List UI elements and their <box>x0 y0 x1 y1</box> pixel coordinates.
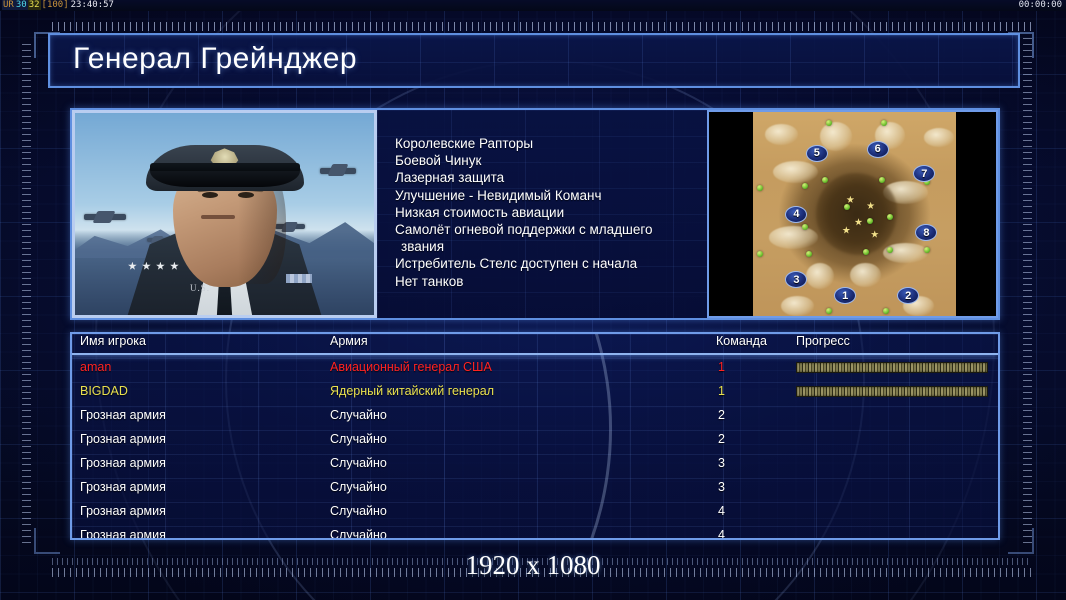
title-bar: Генерал Грейнджер <box>48 33 1020 88</box>
terrain-blob <box>820 122 852 151</box>
cell-player-name: Грозная армия <box>80 480 330 494</box>
status-label: UR <box>2 0 15 10</box>
map-start-position[interactable]: 8 <box>915 224 937 241</box>
terrain-blob <box>924 128 954 146</box>
ribbon-bar-icon <box>286 274 312 283</box>
table-header-row: Имя игрока Армия Команда Прогресс <box>72 334 998 355</box>
main-panel: U.S. Королевские Рапторы Боевой Чинук Ла… <box>48 96 1020 551</box>
map-start-position[interactable]: 5 <box>806 145 828 162</box>
terrain-blob <box>883 243 928 263</box>
map-start-position[interactable]: 1 <box>834 287 856 304</box>
game-lobby-screen: UR3032[100]23:40:57 00:00:00 Генерал Гре… <box>0 0 1066 600</box>
cell-team: 4 <box>716 504 796 518</box>
cell-player-name: Грозная армия <box>80 528 330 540</box>
cell-team: 4 <box>716 528 796 540</box>
resource-icon <box>924 247 930 253</box>
map-start-position[interactable]: 3 <box>785 271 807 288</box>
table-row[interactable]: Грозная армия Случайно 2 <box>72 427 998 451</box>
cell-army: Авиационный генерал США <box>330 360 716 374</box>
terrain-blob <box>773 161 818 183</box>
terrain-blob <box>806 263 834 290</box>
start-position-label: 7 <box>921 168 927 180</box>
cell-army: Случайно <box>330 504 716 518</box>
resource-icon <box>867 218 873 224</box>
cell-army: Случайно <box>330 408 716 422</box>
cell-team: 2 <box>716 432 796 446</box>
resource-icon <box>826 308 832 314</box>
general-eye-right <box>238 192 254 198</box>
resource-icon <box>863 249 869 255</box>
cell-army: Случайно <box>330 432 716 446</box>
cell-player-name: Грозная армия <box>80 408 330 422</box>
star-icon <box>128 262 137 271</box>
table-row[interactable]: Грозная армия Случайно 2 <box>72 403 998 427</box>
map-start-position[interactable]: 4 <box>785 206 807 223</box>
cell-player-name: BIGDAD <box>80 384 330 398</box>
status-clock: 23:40:57 <box>70 0 115 10</box>
terrain-blob <box>765 124 797 144</box>
bonus-item: Королевские Рапторы <box>395 135 707 152</box>
start-position-label: 3 <box>793 274 799 286</box>
table-row[interactable]: Грозная армия Случайно 3 <box>72 451 998 475</box>
start-position-label: 2 <box>905 290 911 302</box>
rank-stars-icon <box>128 262 179 271</box>
cell-player-name: Грозная армия <box>80 504 330 518</box>
general-info-row: U.S. Королевские Рапторы Боевой Чинук Ла… <box>70 108 1000 320</box>
progress-bar <box>796 362 988 373</box>
bonus-item: Нет танков <box>395 273 707 290</box>
start-position-label: 8 <box>923 227 929 239</box>
status-right-clock: 00:00:00 <box>1019 0 1062 11</box>
cell-player-name: Грозная армия <box>80 456 330 470</box>
resource-icon <box>883 308 889 314</box>
star-icon <box>156 262 165 271</box>
map-start-position[interactable]: 7 <box>913 165 935 182</box>
column-header-player-name: Имя игрока <box>80 334 330 348</box>
terrain-blob <box>781 296 813 316</box>
terrain-blob <box>769 226 818 248</box>
general-figure: U.S. <box>110 113 340 315</box>
resource-icon <box>757 251 763 257</box>
cell-player-name: Грозная армия <box>80 432 330 446</box>
map-center-crater <box>816 173 897 255</box>
bonus-item: Самолёт огневой поддержки с младшего <box>395 221 707 238</box>
cell-progress <box>796 386 996 397</box>
cell-army: Ядерный китайский генерал <box>330 384 716 398</box>
progress-bar <box>796 386 988 397</box>
us-insignia: U.S. <box>190 283 210 293</box>
cell-team: 1 <box>716 384 796 398</box>
start-position-label: 4 <box>793 208 799 220</box>
resource-icon <box>806 251 812 257</box>
bonus-item: Низкая стоимость авиации <box>395 204 707 221</box>
status-bracket-value: [100] <box>41 0 70 10</box>
cell-team: 2 <box>716 408 796 422</box>
resource-icon <box>757 185 763 191</box>
ruler-top <box>52 22 1032 31</box>
table-row[interactable]: BIGDAD Ядерный китайский генерал 1 <box>72 379 998 403</box>
start-position-label: 6 <box>875 143 881 155</box>
status-left-readout: UR3032[100]23:40:57 <box>2 0 115 11</box>
table-row[interactable]: Грозная армия Случайно 4 <box>72 523 998 540</box>
terrain-blob <box>850 263 880 287</box>
resource-icon <box>881 120 887 126</box>
table-row[interactable]: Грозная армия Случайно 3 <box>72 475 998 499</box>
bonus-item-continuation: звания <box>395 238 707 255</box>
start-position-label: 5 <box>814 147 820 159</box>
resource-icon <box>822 177 828 183</box>
general-portrait: U.S. <box>72 110 377 318</box>
resource-icon <box>887 214 893 220</box>
column-header-team: Команда <box>716 334 796 348</box>
column-header-progress: Прогресс <box>796 334 996 348</box>
resource-icon <box>802 224 808 230</box>
bonus-item: Лазерная защита <box>395 169 707 186</box>
bonus-item: Истребитель Стелс доступен с начала <box>395 255 707 272</box>
column-header-army: Армия <box>330 334 716 348</box>
star-icon <box>170 262 179 271</box>
cell-army: Случайно <box>330 528 716 540</box>
cell-army: Случайно <box>330 480 716 494</box>
start-position-label: 1 <box>842 290 848 302</box>
star-icon <box>142 262 151 271</box>
resource-icon <box>802 183 808 189</box>
cell-team: 3 <box>716 480 796 494</box>
general-mouth <box>201 215 235 219</box>
bonus-item: Улучшение - Невидимый Команч <box>395 187 707 204</box>
general-bonus-list: Королевские Рапторы Боевой Чинук Лазерна… <box>377 110 707 318</box>
status-value-2: 32 <box>28 0 41 10</box>
map-preview[interactable]: 5 6 7 4 8 3 1 2 <box>707 110 998 318</box>
general-eye-left <box>202 192 218 198</box>
ruler-left <box>22 44 31 544</box>
map-start-position[interactable]: 6 <box>867 141 889 158</box>
map-image: 5 6 7 4 8 3 1 2 <box>753 112 956 316</box>
bonus-items: Королевские Рапторы Боевой Чинук Лазерна… <box>395 135 707 290</box>
status-strip: UR3032[100]23:40:57 00:00:00 <box>0 0 1066 11</box>
table-row[interactable]: aman Авиационный генерал США 1 <box>72 355 998 379</box>
cell-progress <box>796 362 996 373</box>
status-value-1: 30 <box>15 0 28 10</box>
ruler-right <box>1023 38 1032 543</box>
resource-icon <box>887 247 893 253</box>
resolution-label: 1920 x 1080 <box>0 550 1066 581</box>
cell-team: 3 <box>716 456 796 470</box>
table-row[interactable]: Грозная армия Случайно 4 <box>72 499 998 523</box>
cell-player-name: aman <box>80 360 330 374</box>
bonus-item: Боевой Чинук <box>395 152 707 169</box>
cell-team: 1 <box>716 360 796 374</box>
cap-visor <box>150 171 300 187</box>
page-title: Генерал Грейнджер <box>73 42 357 76</box>
player-table: Имя игрока Армия Команда Прогресс aman А… <box>70 332 1000 540</box>
cell-army: Случайно <box>330 456 716 470</box>
